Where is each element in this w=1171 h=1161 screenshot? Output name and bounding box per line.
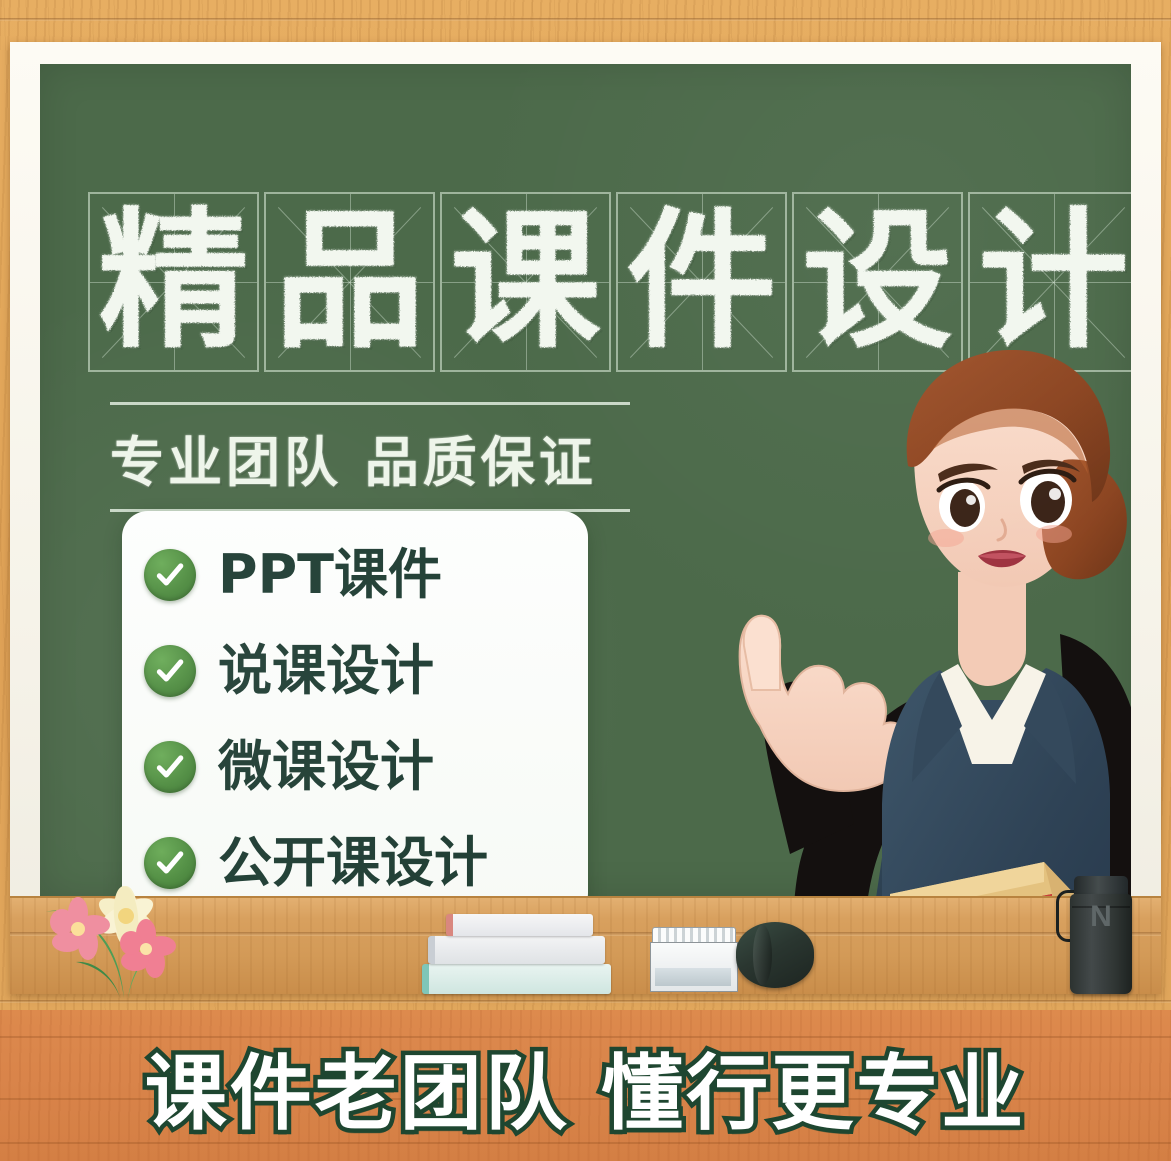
title-cell: 精 xyxy=(88,192,259,372)
feature-list: PPT课件 说课设计 微课设计 xyxy=(144,527,578,898)
wood-seam xyxy=(0,1000,1171,1003)
title-cell: 设 xyxy=(792,192,963,372)
stacked-books xyxy=(422,908,612,994)
thermos-bottle: N xyxy=(1070,876,1132,994)
eraser-felt xyxy=(736,922,814,988)
chalkboard-surface: 精 品 课 件 设 xyxy=(40,64,1131,898)
title-cell: 计 xyxy=(968,192,1131,372)
book xyxy=(428,936,605,964)
feature-label: 说课设计 xyxy=(218,644,434,698)
subtitle-block: 专业团队 品质保证 xyxy=(110,402,630,512)
check-circle-icon xyxy=(144,549,196,601)
list-item[interactable]: PPT课件 xyxy=(144,548,578,602)
blackboard-eraser xyxy=(736,922,814,988)
title-cell: 件 xyxy=(616,192,787,372)
feature-label: PPT课件 xyxy=(218,548,442,602)
list-item[interactable]: 微课设计 xyxy=(144,740,578,794)
chalkboard-frame: 精 品 课 件 设 xyxy=(10,42,1161,994)
teacher-illustration xyxy=(640,334,1131,898)
book xyxy=(446,914,593,936)
banner-text: 课件老团队 懂行更专业 xyxy=(0,1026,1171,1145)
feature-card: PPT课件 说课设计 微课设计 xyxy=(122,511,588,898)
title-character: 设 xyxy=(802,207,952,357)
chalk-box xyxy=(650,928,736,992)
title-character: 计 xyxy=(978,207,1128,357)
chalk-box-label xyxy=(655,968,731,986)
subtitle-rule-top xyxy=(110,402,630,405)
feature-label: 公开课设计 xyxy=(218,836,488,890)
feature-label: 微课设计 xyxy=(218,740,434,794)
title-character: 课 xyxy=(450,207,600,357)
title-character: 件 xyxy=(626,207,776,357)
title-cell: 品 xyxy=(264,192,435,372)
title-cell: 课 xyxy=(440,192,611,372)
check-circle-icon xyxy=(144,645,196,697)
wood-seam xyxy=(0,18,1171,21)
subtitle-text: 专业团队 品质保证 xyxy=(110,418,630,497)
title-character: 品 xyxy=(274,207,424,357)
bottle-logo-n: N xyxy=(1070,902,1132,932)
list-item[interactable]: 说课设计 xyxy=(144,644,578,698)
title-character: 精 xyxy=(98,207,248,357)
bottle-cap xyxy=(1074,876,1128,896)
bottom-banner: 课件老团队 懂行更专业 xyxy=(0,1010,1171,1161)
chalk-ledge: N xyxy=(10,896,1161,994)
flowers-decoration xyxy=(28,878,218,998)
eraser-band xyxy=(753,925,772,986)
promo-poster: 精 品 课 件 设 xyxy=(0,0,1171,1161)
check-circle-icon xyxy=(144,741,196,793)
book xyxy=(422,964,611,994)
